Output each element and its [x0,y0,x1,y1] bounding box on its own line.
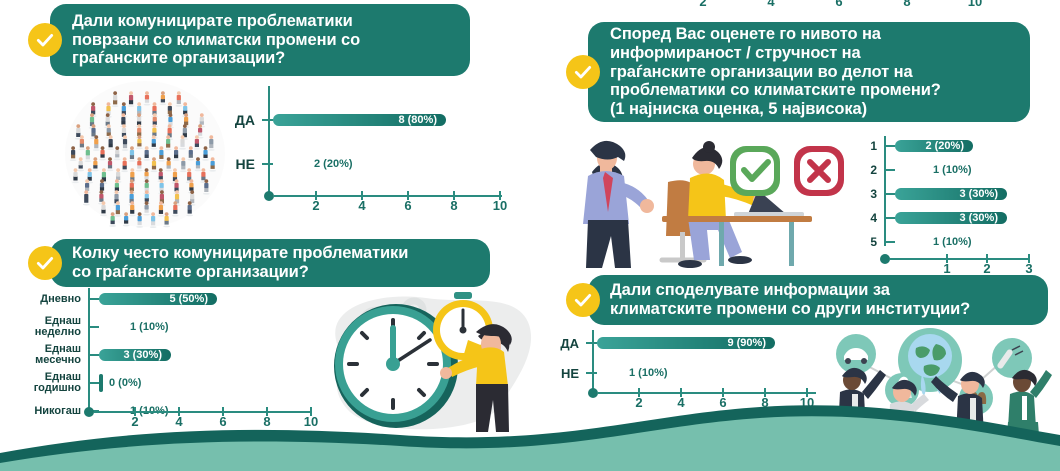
infographic-page: 2 4 6 8 10 Дали комуницирате проблематик… [0,0,1060,471]
bar-category-label: 2 [862,164,884,176]
question-banner-3-text: Според Вас оценете го нивото на информир… [588,18,957,126]
axis-origin-dot [264,191,274,201]
bar-value-label: 8 (80%) [398,114,437,126]
question-banner-2: Колку често комуницирате проблематики со… [50,239,490,287]
top-partial-axis: 2 4 6 8 10 [660,0,1000,12]
bar: 3 (30%) [895,212,1007,224]
bar-row: Дневно 5 (50%) [12,288,322,310]
axis-tick [884,145,895,147]
bar-category-label: 4 [862,212,884,224]
bar-category-label: Еднаш годишно [12,372,88,394]
bar-category-label: Еднаш неделно [12,316,88,338]
crowd-of-people-illustration [55,78,230,230]
question-banner-4-text: Дали споделувате информации за климатски… [588,274,986,326]
bar-category-label: НЕ [556,367,586,380]
axis-label: 4 [358,198,365,213]
bar-row: НЕ 2 (20%) [232,146,522,182]
chart-q3: 1 2 (20%) 2 1 (10%) 3 3 (30%) [862,136,1058,276]
check-icon [28,23,62,57]
axis-tick [884,169,895,171]
bar-row: 4 3 (30%) [862,208,1058,228]
check-icon [28,246,62,280]
bar-category-label: ДА [232,113,262,127]
axis-label: 10 [493,198,507,213]
bottom-wave-decoration [0,401,1060,471]
bar-value-label: 9 (90%) [727,337,766,349]
axis-tick [884,193,895,195]
bar: 2 (20%) [895,140,973,152]
bar: 5 (50%) [99,293,217,305]
axis-label: 4 [767,0,774,9]
bar-category-label: ДА [556,337,586,350]
bar-row: Еднаш неделно 1 (10%) [12,316,322,338]
bar-row: Еднаш месечно 3 (30%) [12,344,322,366]
axis-tick [88,354,99,356]
chart-q1: ДА 8 (80%) НЕ 2 (20%) 2 4 6 8 10 [232,86,522,216]
axis-origin-dot [588,388,598,398]
bar-category-label: 1 [862,140,884,152]
bar: 8 (80%) [273,114,446,126]
axis-label: 8 [903,0,910,9]
bar-row: ДА 9 (90%) [556,332,826,354]
bar-value-label: 1 (10%) [124,321,169,333]
bar-category-label: Еднаш месечно [12,344,88,366]
bar-row: НЕ 1 (10%) [556,362,826,384]
bar-value-label: 1 (10%) [623,367,668,379]
bar-category-label: 5 [862,236,884,248]
bar-value-label: 0 (0%) [103,377,141,389]
bar-value-label: 1 (10%) [927,164,972,176]
bar-value-label: 2 (20%) [925,140,964,152]
check-icon [566,283,600,317]
bar-row: 5 1 (10%) [862,232,1058,252]
bar-value-label: 3 (30%) [959,188,998,200]
question-banner-2-text: Колку често комуницирате проблематики со… [50,237,424,289]
bar-row: 3 3 (30%) [862,184,1058,204]
axis-label: 6 [404,198,411,213]
bar-value-label: 3 (30%) [959,212,998,224]
bar-row: ДА 8 (80%) [232,102,522,138]
axis-origin-dot [880,254,890,264]
axis-label: 2 [312,198,319,213]
question-banner-1-text: Дали комуницирате проблематики поврзани … [50,5,376,75]
check-icon [566,55,600,89]
bar-value-label: 5 (50%) [169,293,208,305]
axis-tick [88,326,99,328]
bar: 9 (90%) [597,337,775,349]
bar-value-label: 2 (20%) [308,158,353,170]
bar-value-label: 3 (30%) [123,349,162,361]
office-meeting-with-check-and-cross-illustration [562,128,852,276]
axis-label: 10 [968,0,982,9]
axis-line [274,195,502,197]
bar-category-label: НЕ [232,157,262,171]
bar: 3 (30%) [99,349,171,361]
axis-label: 3 [1025,261,1032,276]
axis-tick [262,119,273,121]
axis-tick [586,372,597,374]
axis-tick [586,342,597,344]
bar-row: 1 2 (20%) [862,136,1058,156]
question-banner-4: Дали споделувате информации за климатски… [588,275,1048,325]
bar-category-label: Дневно [12,294,88,305]
axis-line [890,258,1030,260]
axis-tick [88,382,99,384]
axis-tick [884,241,895,243]
bar: 3 (30%) [895,188,1007,200]
axis-line [598,392,816,394]
axis-label: 6 [835,0,842,9]
axis-tick [884,217,895,219]
axis-label: 2 [699,0,706,9]
axis-tick [262,163,273,165]
axis-tick [88,298,99,300]
bar-category-label: 3 [862,188,884,200]
bar-value-label: 1 (10%) [927,236,972,248]
bar-row: 2 1 (10%) [862,160,1058,180]
bar-row: Еднаш годишно 0 (0%) [12,372,322,394]
axis-label: 8 [450,198,457,213]
question-banner-3: Според Вас оценете го нивото на информир… [588,22,1030,122]
question-banner-1: Дали комуницирате проблематики поврзани … [50,4,470,76]
